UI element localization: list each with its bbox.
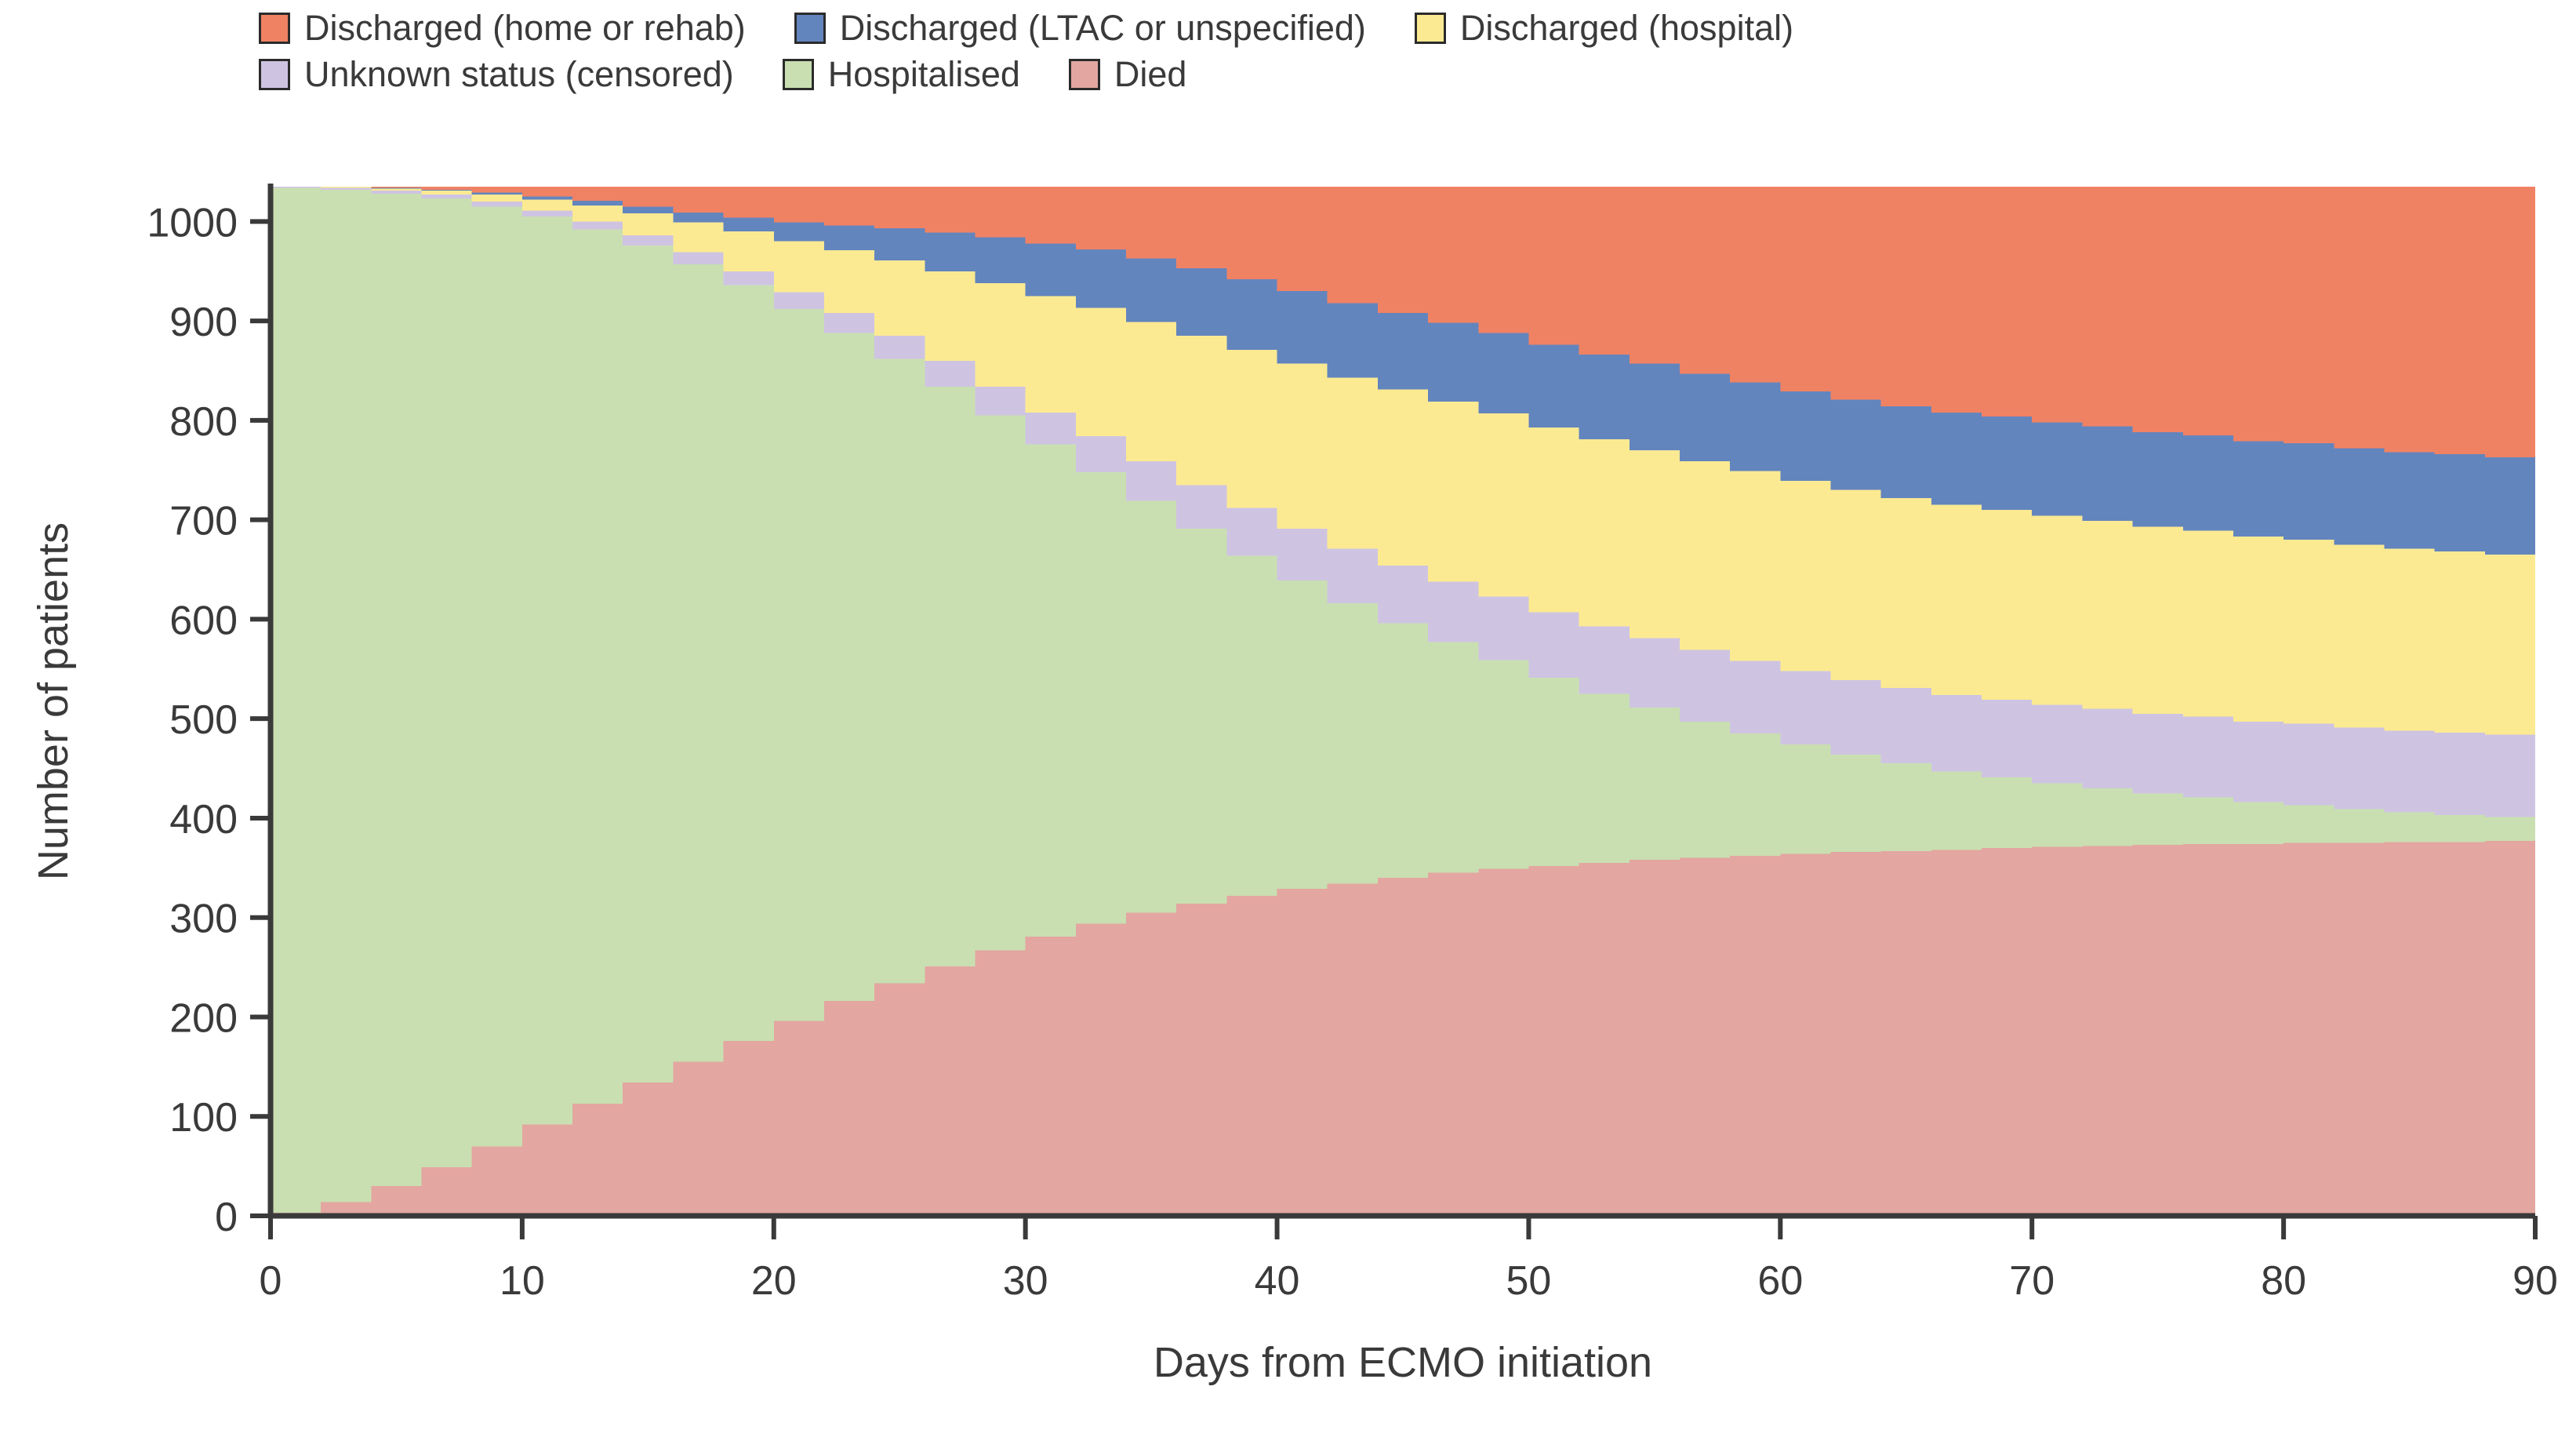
x-tick-label: 90 bbox=[2512, 1258, 2558, 1304]
legend-label-unknown-censored: Unknown status (censored) bbox=[304, 56, 734, 92]
legend-item-hospitalised[interactable]: Hospitalised bbox=[783, 56, 1020, 92]
x-tick-label: 20 bbox=[751, 1258, 797, 1304]
legend-swatch-hospitalised bbox=[783, 59, 814, 90]
y-tick-label: 400 bbox=[169, 797, 238, 842]
legend-swatch-discharged-ltac bbox=[794, 13, 826, 44]
y-tick-label: 200 bbox=[169, 995, 238, 1041]
legend-row-2: Unknown status (censored) Hospitalised D… bbox=[259, 53, 2533, 96]
y-tick-label: 1000 bbox=[147, 200, 238, 246]
x-tick-label: 60 bbox=[1757, 1258, 1803, 1304]
y-tick-label: 100 bbox=[169, 1095, 238, 1141]
x-tick-label: 80 bbox=[2261, 1258, 2306, 1304]
legend-item-discharged-ltac[interactable]: Discharged (LTAC or unspecified) bbox=[794, 10, 1366, 45]
legend-label-discharged-hospital: Discharged (hospital) bbox=[1460, 10, 1793, 45]
legend-swatch-unknown-censored bbox=[259, 59, 290, 90]
x-tick-label: 50 bbox=[1506, 1258, 1552, 1304]
y-axis-title: Number of patients bbox=[30, 522, 77, 880]
y-tick-label: 300 bbox=[169, 897, 238, 942]
legend-item-died[interactable]: Died bbox=[1069, 56, 1187, 92]
plot-area-wrapper: 0100200300400500600700800900100001020304… bbox=[0, 94, 2576, 1430]
legend-label-discharged-ltac: Discharged (LTAC or unspecified) bbox=[840, 10, 1366, 45]
legend-label-hospitalised: Hospitalised bbox=[828, 56, 1020, 92]
legend-item-discharged-home-rehab[interactable]: Discharged (home or rehab) bbox=[259, 10, 746, 45]
legend-swatch-died bbox=[1069, 59, 1100, 90]
y-tick-label: 900 bbox=[169, 300, 238, 345]
figure-container: Discharged (home or rehab) Discharged (L… bbox=[0, 0, 2576, 1430]
legend-swatch-discharged-hospital bbox=[1415, 13, 1446, 44]
x-tick-label: 0 bbox=[260, 1258, 282, 1304]
y-tick-label: 800 bbox=[169, 399, 238, 445]
x-tick-label: 30 bbox=[1003, 1258, 1048, 1304]
chart-legend: Discharged (home or rehab) Discharged (L… bbox=[259, 6, 2533, 96]
area-series-group bbox=[271, 187, 2535, 1216]
legend-row-1: Discharged (home or rehab) Discharged (L… bbox=[259, 6, 2533, 49]
x-tick-label: 10 bbox=[500, 1258, 545, 1304]
legend-swatch-discharged-home-rehab bbox=[259, 13, 290, 44]
y-tick-label: 600 bbox=[169, 598, 238, 643]
x-tick-label: 40 bbox=[1255, 1258, 1300, 1304]
y-tick-label: 700 bbox=[169, 499, 238, 544]
legend-label-discharged-home-rehab: Discharged (home or rehab) bbox=[304, 10, 746, 45]
stacked-area-chart: 0100200300400500600700800900100001020304… bbox=[0, 94, 2576, 1430]
legend-item-discharged-hospital[interactable]: Discharged (hospital) bbox=[1415, 10, 1793, 45]
x-tick-label: 70 bbox=[2009, 1258, 2055, 1304]
legend-label-died: Died bbox=[1114, 56, 1187, 92]
legend-item-unknown-censored[interactable]: Unknown status (censored) bbox=[259, 56, 734, 92]
y-tick-label: 0 bbox=[215, 1195, 238, 1240]
y-tick-label: 500 bbox=[169, 697, 238, 743]
x-axis-title: Days from ECMO initiation bbox=[1154, 1339, 1652, 1386]
